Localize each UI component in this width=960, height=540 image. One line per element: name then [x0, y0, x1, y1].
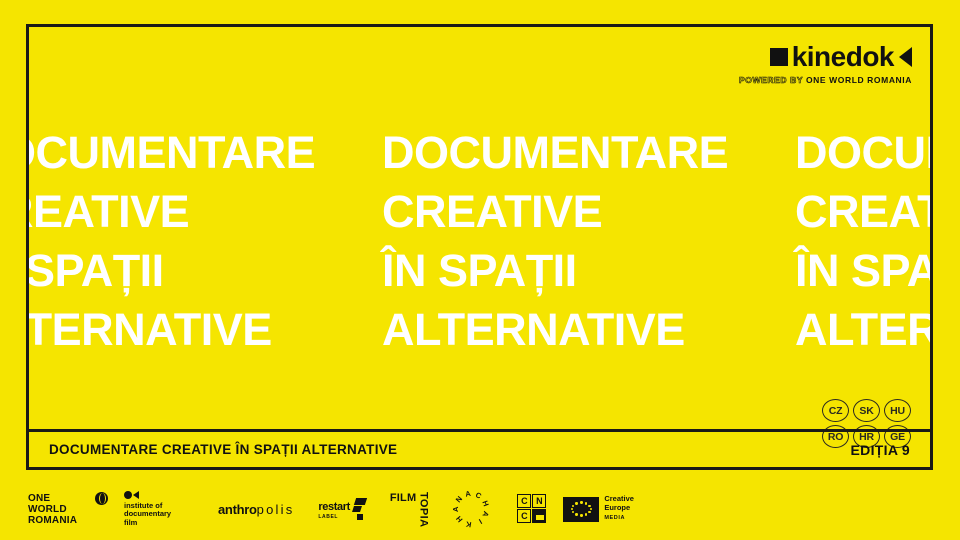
headline-line: ALTERNATIVE: [795, 300, 930, 359]
partner-creative-europe-media[interactable]: Creative Europe MEDIA: [563, 495, 634, 522]
footer: ONE WORLD ROMANIA institute of documenta…: [0, 478, 960, 540]
headline-block: DOCUMENTARECREATIVEÎN SPAȚIIALTERNATIVE: [382, 123, 795, 359]
headline-line: DOCUMENTARE: [29, 123, 382, 182]
eu-flag-icon: [563, 497, 599, 522]
restart-line1: restart: [318, 502, 349, 513]
owr-line2: WORLD: [28, 504, 77, 515]
headline-band: DOCUMENTARECREATIVEÎN SPAȚIIALTERNATIVED…: [29, 27, 930, 432]
partner-one-world-romania[interactable]: ONE WORLD ROMANIA: [28, 493, 116, 526]
headline-line: ALTERNATIVE: [382, 300, 795, 359]
anthropolis-light: polis: [257, 502, 295, 517]
eu-star: [588, 511, 590, 513]
black-square-icon: [770, 48, 788, 66]
eu-star: [575, 513, 577, 515]
headline-line: ÎN SPAȚII: [795, 241, 930, 300]
anthropolis-bold: anthro: [218, 502, 257, 517]
headline-block: DOCUMENTARECREATIVEÎN SPAȚIIALTERNATIVE: [795, 123, 930, 359]
poster-frame: DOCUMENTARECREATIVEÎN SPAȚIIALTERNATIVED…: [26, 24, 933, 470]
headline-line: CREATIVE: [29, 182, 382, 241]
idf-line3: film: [124, 519, 171, 528]
kinedok-logo[interactable]: kinedok POWERED BY ONE WORLD ROMANIA: [739, 44, 912, 85]
headline-block: DOCUMENTARECREATIVEÎN SPAȚIIALTERNATIVE: [29, 123, 382, 359]
camera-icon: [124, 491, 171, 499]
filmtopia-line1: FILM: [390, 492, 416, 504]
partner-logo-row: ONE WORLD ROMANIA institute of documenta…: [28, 478, 634, 540]
kinedok-powered-by: POWERED BY ONE WORLD ROMANIA: [739, 75, 912, 85]
eu-star: [575, 502, 577, 504]
restart-line2: LABEL: [318, 515, 349, 520]
partner-filmtopia[interactable]: FILM TOPIA: [390, 492, 429, 526]
strip-title: DOCUMENTARE CREATIVE ÎN SPAȚII ALTERNATI…: [49, 442, 397, 457]
cnc-mark-icon: [532, 509, 546, 523]
chaikhana-letter: A: [465, 489, 472, 499]
headline-line: ÎN SPAȚII: [382, 241, 795, 300]
poster-canvas: DOCUMENTARECREATIVEÎN SPAȚIIALTERNATIVED…: [0, 0, 960, 540]
country-badge-cz: CZ: [822, 399, 849, 422]
eu-star: [590, 508, 592, 510]
globe-icon: [95, 492, 108, 505]
eu-star: [571, 508, 573, 510]
left-triangle-icon: [899, 47, 912, 67]
country-badge-sk: SK: [853, 399, 880, 422]
country-badge-hu: HU: [884, 399, 911, 422]
owr-line1: ONE: [28, 493, 77, 504]
filmtopia-line2: TOPIA: [417, 492, 429, 527]
eu-star: [572, 511, 574, 513]
headline-line: CREATIVE: [382, 182, 795, 241]
restart-mark-icon: [353, 498, 368, 520]
chaikhana-letter: I: [478, 517, 484, 526]
eu-star: [585, 502, 587, 504]
ceu-line2: Europe: [604, 504, 634, 513]
partner-anthropolis[interactable]: anthropolis: [218, 502, 294, 517]
headline-line: DOCUMENTARE: [795, 123, 930, 182]
chaikhana-letter: C: [474, 490, 483, 501]
chaikhana-letter: A: [451, 507, 460, 512]
chaikhana-letter: K: [465, 519, 472, 529]
camera-dot-icon: [124, 491, 132, 499]
eu-star: [588, 505, 590, 507]
camera-triangle-icon: [133, 491, 139, 499]
powered-by-brand: ONE WORLD ROMANIA: [806, 75, 912, 85]
partner-chaikhana[interactable]: CHAIKHANA: [449, 487, 493, 531]
kinedok-wordmark-row: kinedok: [739, 44, 912, 70]
eu-star: [585, 513, 587, 515]
partner-cnc[interactable]: C N C: [517, 494, 547, 524]
headline-line: ALTERNATIVE: [29, 300, 382, 359]
partner-restart-label[interactable]: restart LABEL: [318, 498, 367, 520]
cnc-letter-n: N: [532, 494, 546, 508]
kinedok-wordmark: kinedok: [792, 44, 894, 70]
eu-star: [572, 505, 574, 507]
powered-by-label: POWERED BY: [739, 75, 806, 85]
title-strip: DOCUMENTARE CREATIVE ÎN SPAȚII ALTERNATI…: [29, 429, 930, 467]
cnc-letter-c1: C: [517, 494, 531, 508]
headline-line: DOCUMENTARE: [382, 123, 795, 182]
partner-institute-of-documentary-film[interactable]: institute of documentary film: [124, 491, 204, 528]
owr-line3: ROMANIA: [28, 515, 77, 526]
headline-line: ÎN SPAȚII: [29, 241, 382, 300]
chaikhana-letter: N: [454, 494, 464, 504]
chaikhana-letter: H: [481, 499, 491, 507]
chaikhana-letter: A: [481, 510, 491, 518]
headline-track: DOCUMENTARECREATIVEÎN SPAȚIIALTERNATIVED…: [29, 123, 930, 359]
ceu-line3: MEDIA: [604, 514, 634, 523]
strip-edition: EDIȚIA 9: [851, 442, 910, 458]
chaikhana-letter: H: [454, 514, 464, 524]
eu-star: [580, 501, 582, 503]
eu-star: [580, 514, 582, 516]
headline-line: CREATIVE: [795, 182, 930, 241]
cnc-letter-c2: C: [517, 509, 531, 523]
